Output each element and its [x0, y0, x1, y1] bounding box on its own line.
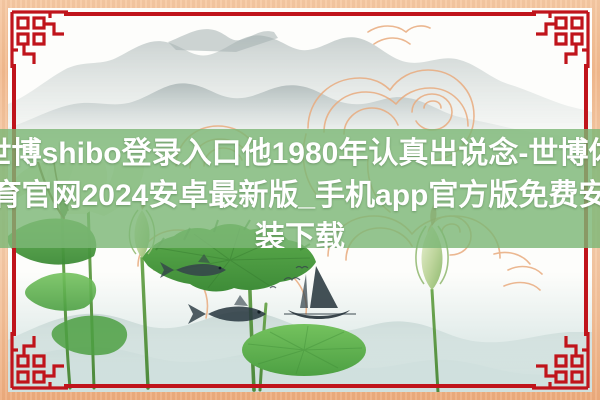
fret-corner-ornament-bottom-right: [528, 328, 592, 392]
decorative-banner: 世博shibo登录入口他1980年认真出说念-世博体育官网2024安卓最新版_手…: [0, 0, 600, 400]
koi-fish: [188, 295, 266, 324]
fret-corner-ornament-bottom-left: [8, 328, 72, 392]
frame-rule-bottom: [64, 384, 536, 388]
frame-rule-top: [64, 12, 536, 16]
page-title: 世博shibo登录入口他1980年认真出说念-世博体育官网2024安卓最新版_手…: [0, 133, 600, 248]
title-band: 世博shibo登录入口他1980年认真出说念-世博体育官网2024安卓最新版_手…: [0, 129, 600, 248]
fret-corner-ornament-top-right: [528, 8, 592, 72]
fret-corner-ornament-top-left: [8, 8, 72, 72]
